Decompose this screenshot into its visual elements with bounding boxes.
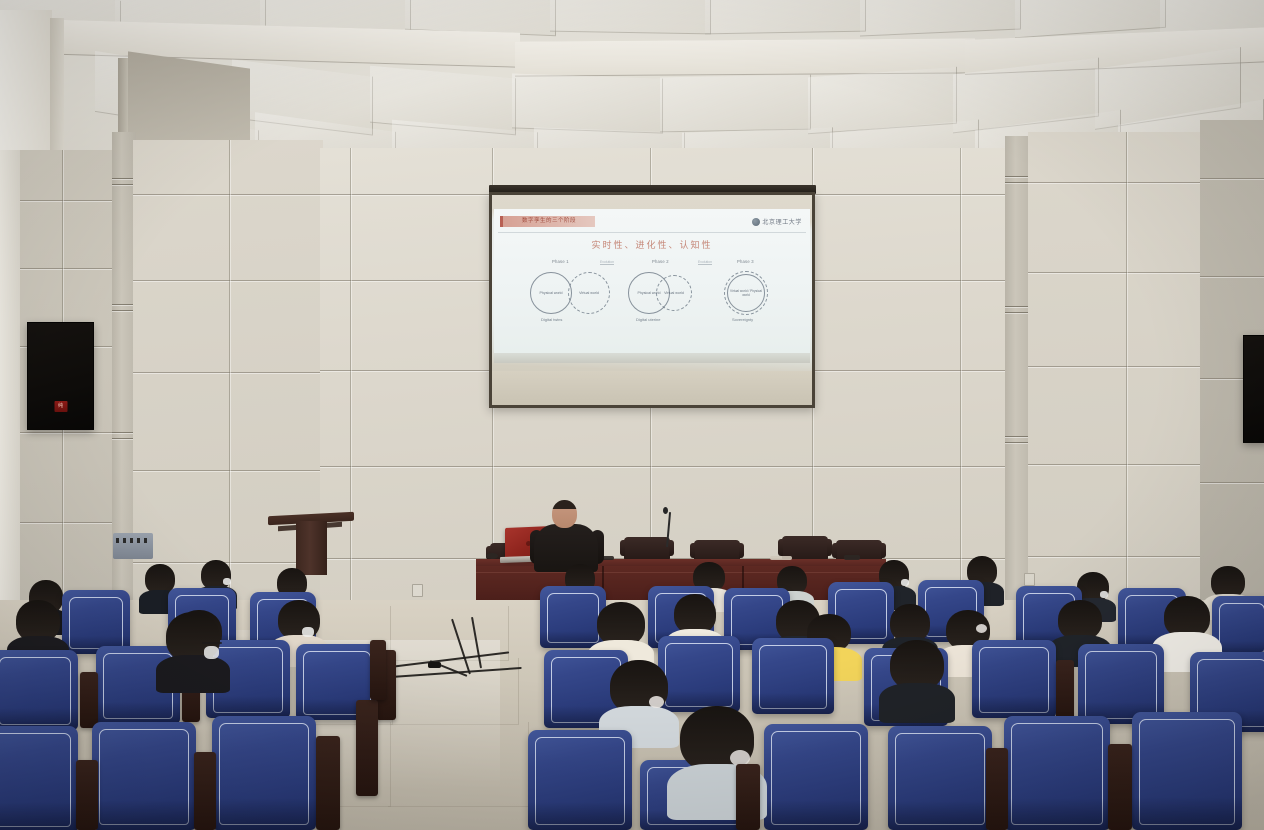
speaker-left: 纯 [27,322,94,430]
desk-item-left [486,553,498,559]
seat-r3-c3 [212,716,316,830]
slide-divider [498,232,806,233]
audience-person-c1 [160,612,226,688]
phase-label-1: Phase 1 [552,259,569,264]
seat-r3-c7 [888,726,992,830]
seat-r3-c6 [764,724,868,830]
hair-tie [649,696,664,708]
seat-r2-c9 [972,640,1056,718]
phase1-caption: Digital twins [541,317,562,322]
armrest-r2-4 [1056,660,1074,720]
armrest-r3-2 [194,752,216,830]
armrest-r3-6 [1108,744,1132,830]
slide-institution-logo: 北京理工大学 [752,216,802,227]
speaker-right [1243,335,1264,443]
seat-r2-c7 [752,638,834,714]
armrest-r3-5 [986,748,1008,830]
arrow-label-2: Evolution [698,260,712,264]
audience-person-c3 [884,640,950,720]
armrest-r3-3 [316,736,340,830]
desk-item-papers [770,556,792,560]
face-mask [901,579,909,586]
university-seal-icon [752,218,760,226]
screen-lower-blank [492,371,812,405]
phase-label-2: Phase 2 [652,259,669,264]
slide-header: 数字孪生的三个阶段 北京理工大学 [494,213,810,232]
phase1-circle-physical: Physical world [530,272,572,314]
arrow-label-1: Evolution [600,260,614,264]
face-mask [1100,591,1108,598]
wall-left-angled [133,140,323,610]
armrest-r3-4 [736,764,760,830]
slide-institution-name: 北京理工大学 [762,217,802,226]
phase1-circle-virtual: Virtual world [568,272,610,314]
cable-connector [428,662,441,668]
armrest-r2-1 [80,672,98,728]
microphone-head [663,507,668,514]
phase2-circle-virtual: Virtual world [656,275,692,311]
desk-item-right [844,555,860,560]
face-mask [223,578,231,585]
wall-right-angled [1028,132,1208,612]
seat-r1-c1 [62,590,130,654]
slide-diagram: Phase 1 Phase 2 Phase 3 Evolution Evolut… [494,259,810,344]
seat-r3-c2 [92,722,196,830]
hair-tie [976,624,987,633]
slide-ribbon-title: 数字孪生的三个阶段 [500,216,595,227]
seat-r3-c8 [1004,716,1110,830]
speaker-badge-left: 纯 [54,401,67,412]
slide-footer-band [494,353,810,363]
face-mask [204,646,219,659]
phase3-caption: Sovereignty [732,317,753,322]
slide: 数字孪生的三个阶段 北京理工大学 实时性、进化性、认知性 Phase 1 Pha… [494,209,810,363]
seat-r3-c4 [528,730,632,830]
wall-outlet [412,584,423,597]
wall-plate-right [1024,573,1035,586]
lecture-hall-photo: 纯 数字孪生的三个阶段 北京理工大学 实时性、进化性、认知性 Phase 1 [0,0,1264,830]
armrest-r3-1 [76,760,98,830]
glasses [202,642,222,644]
phase3-circle-merged: Virtual world / Physical world [727,274,765,312]
lectern-body [296,521,327,575]
armrest-aisle-left-2 [370,640,386,700]
seat-r3-c9 [1132,712,1242,830]
presenter [532,500,602,570]
face-mask [302,627,314,637]
armrest-aisle-left [356,700,378,796]
amplifier-unit [113,533,153,559]
stage-chair-1 [624,537,670,560]
phase-label-3: Phase 3 [737,259,754,264]
projection-screen: 数字孪生的三个阶段 北京理工大学 实时性、进化性、认知性 Phase 1 Pha… [489,192,815,408]
phase2-caption: Digital uterine [636,317,660,322]
seat-r2-c1 [0,650,78,730]
slide-title: 实时性、进化性、认知性 [494,238,810,251]
amplifier-controls [116,538,150,543]
wall-jamb-left [0,150,20,620]
seat-r3-c1 [0,726,78,830]
